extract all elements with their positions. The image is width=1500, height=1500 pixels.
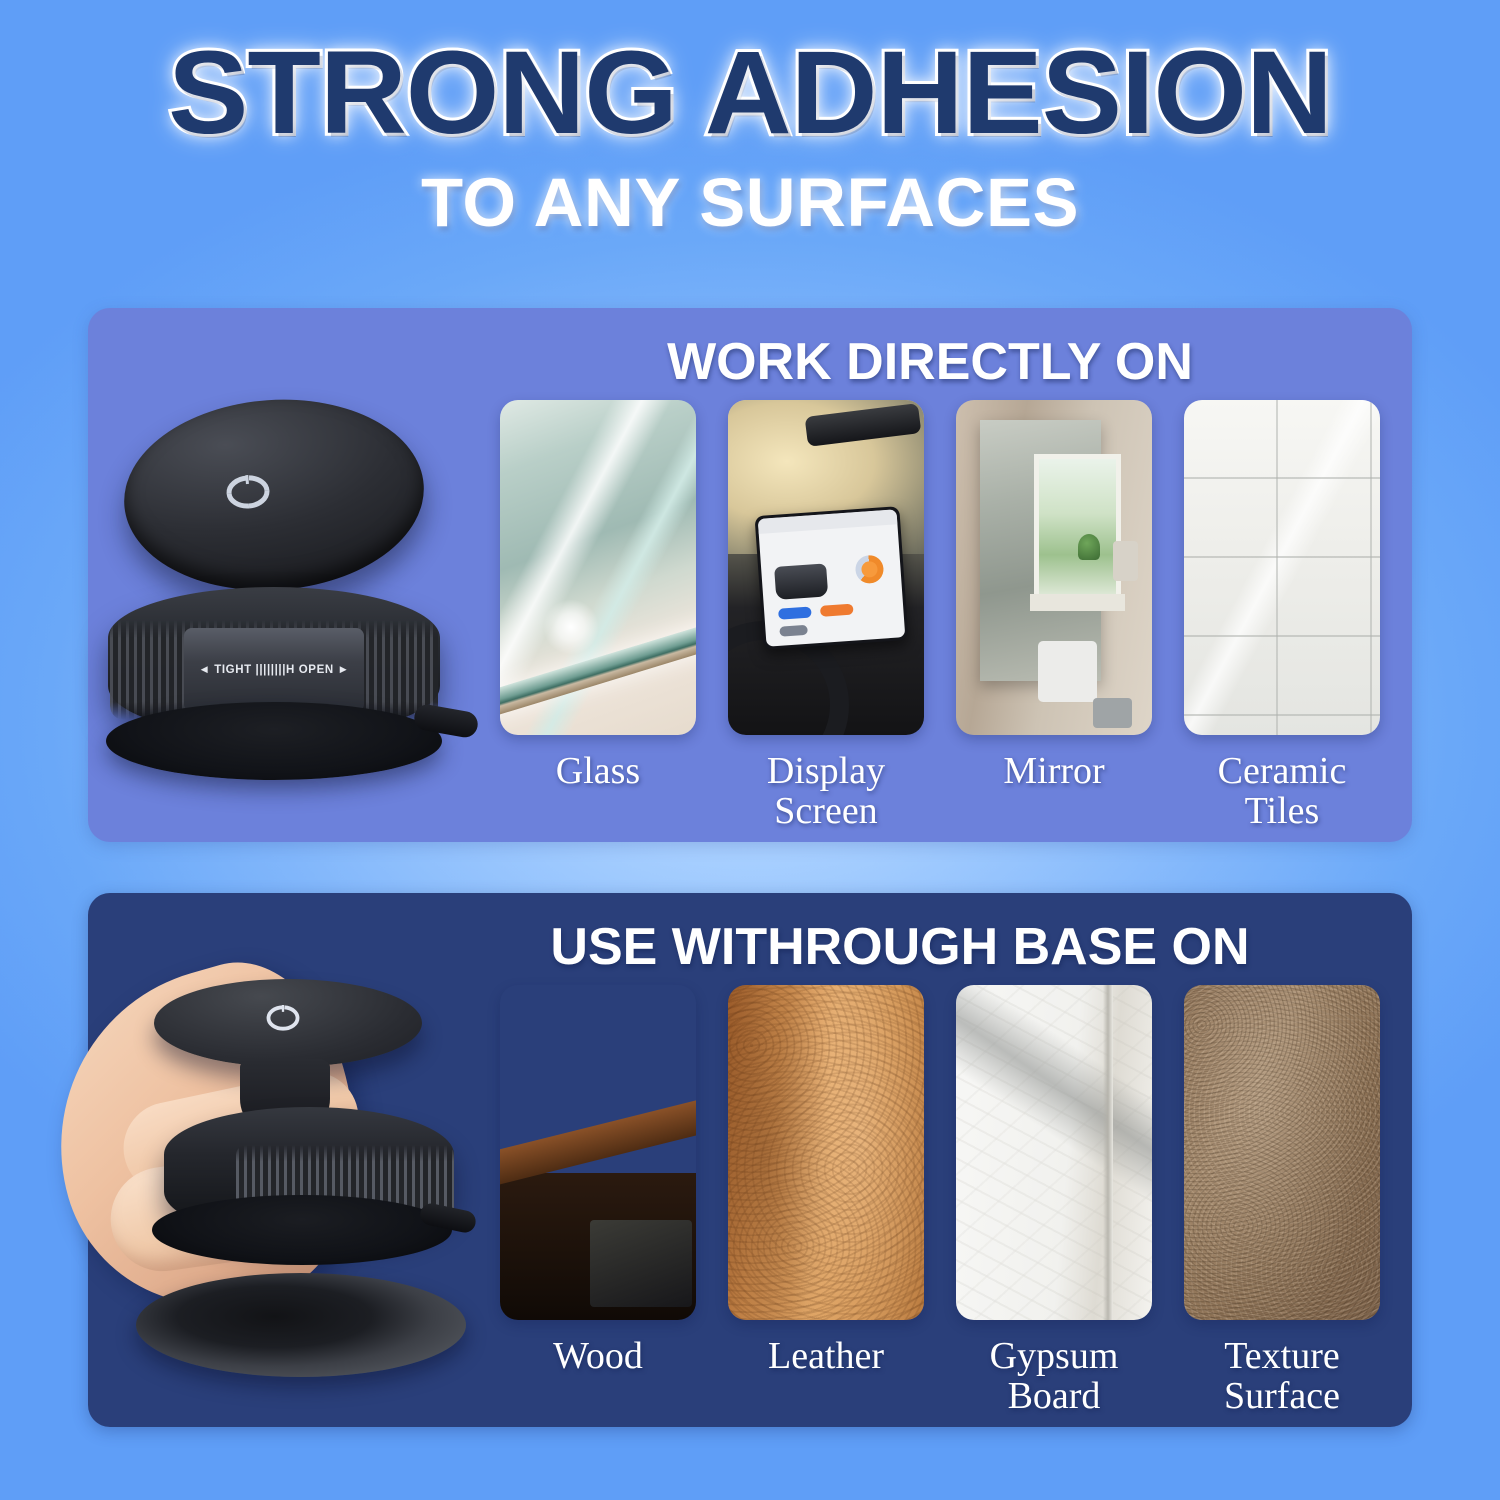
tablet-ui-car-graphic (774, 563, 829, 600)
segmented-ring-logo-icon (266, 1005, 300, 1031)
caption-ceramic-tiles: Ceramic Tiles (1184, 751, 1380, 832)
knob-label-band: ◄ TIGHT ||||||||H OPEN ► (184, 628, 364, 712)
magnetic-puck-top (118, 390, 431, 600)
plant (1078, 534, 1100, 560)
caption-line-2: Board (956, 1376, 1152, 1416)
product-image-base-mount (88, 967, 508, 1407)
caption-line-1: Ceramic (1184, 751, 1380, 791)
tablet-ui-button-primary (778, 606, 812, 620)
panel-work-directly-on: WORK DIRECTLY ON ◄ TIGHT ||||||||H OPEN … (88, 308, 1412, 842)
car-tablet-screen (755, 506, 909, 650)
thumbnail-gypsum-board (956, 985, 1152, 1320)
glass-texture (500, 400, 696, 735)
tile-grout-lines (1184, 400, 1380, 735)
ceramic-tile-texture (1184, 400, 1380, 735)
caption-leather: Leather (728, 1336, 924, 1376)
caption-gypsum-board: Gypsum Board (956, 1336, 1152, 1417)
tap (1093, 698, 1132, 728)
leather-grain (728, 985, 924, 1320)
caption-line-1: Gypsum (956, 1336, 1152, 1376)
texture-speckles (1184, 985, 1380, 1320)
toilet (1038, 641, 1097, 701)
thumbnail-leather (728, 985, 924, 1320)
gypsum-texture (956, 985, 1152, 1320)
panel-use-withrough-base-on: USE WITHROUGH BASE ON (88, 893, 1412, 1427)
surface-item-display-screen: Display Screen (728, 400, 924, 832)
knob-tight-open-label: ◄ TIGHT ||||||||H OPEN ► (198, 664, 349, 676)
surface-item-texture-surface: Texture Surface (1184, 985, 1380, 1417)
board-edge-ridge (1103, 985, 1113, 1320)
wall-switch (1113, 541, 1138, 581)
caption-line-1: Display (728, 751, 924, 791)
caption-mirror: Mirror (956, 751, 1152, 791)
window-sill (1030, 594, 1124, 611)
surface-item-ceramic-tiles: Ceramic Tiles (1184, 400, 1380, 832)
surface-item-mirror: Mirror (956, 400, 1152, 791)
surface-item-gypsum-board: Gypsum Board (956, 985, 1152, 1417)
page-subtitle: TO ANY SURFACES (0, 168, 1500, 237)
adhesive-base-disc (136, 1273, 466, 1377)
product-image-direct-mount: ◄ TIGHT ||||||||H OPEN ► (88, 382, 508, 822)
glass-reflection (590, 1220, 692, 1307)
surface-item-leather: Leather (728, 985, 924, 1376)
caption-display-screen: Display Screen (728, 751, 924, 832)
surface-item-glass: Glass (500, 400, 696, 791)
suction-base (152, 1195, 452, 1265)
leather-texture (728, 985, 924, 1320)
caption-line-2: Screen (728, 791, 924, 831)
caption-line-2: Surface (1184, 1376, 1380, 1416)
thumbnail-mirror (956, 400, 1152, 735)
page-title: STRONG ADHESION (0, 34, 1500, 152)
caption-line-1: Texture (1184, 1336, 1380, 1376)
surface-thumbnail-grid-bottom: Wood Leather Gypsum Board (500, 985, 1412, 1415)
tablet-ui (758, 509, 906, 646)
tablet-ui-button-secondary (820, 603, 854, 617)
thumbnail-display-screen (728, 400, 924, 735)
thumbnail-ceramic-tiles (1184, 400, 1380, 735)
thumbnail-texture-surface (1184, 985, 1380, 1320)
display-screen-texture (728, 400, 924, 735)
rough-texture (1184, 985, 1380, 1320)
wood-texture (500, 985, 696, 1320)
caption-glass: Glass (500, 751, 696, 791)
thumbnail-wood (500, 985, 696, 1320)
caption-line-2: Tiles (1184, 791, 1380, 831)
surface-item-wood: Wood (500, 985, 696, 1376)
thumbnail-glass (500, 400, 696, 735)
window-reflection (1034, 454, 1120, 601)
tablet-ui-charge-ring (855, 553, 885, 583)
suction-base (106, 702, 442, 780)
page-title-block: STRONG ADHESION TO ANY SURFACES (0, 34, 1500, 237)
caption-texture-surface: Texture Surface (1184, 1336, 1380, 1417)
surface-thumbnail-grid-top: Glass (500, 400, 1412, 830)
caption-wood: Wood (500, 1336, 696, 1376)
segmented-ring-logo-icon (225, 474, 271, 511)
mirror-texture (956, 400, 1152, 735)
tablet-ui-button-tertiary (780, 624, 808, 636)
